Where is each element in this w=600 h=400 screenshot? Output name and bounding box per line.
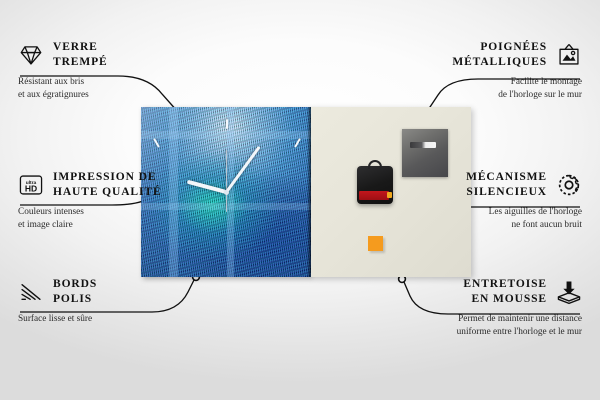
- feature-title: MÉCANISME SILENCIEUX: [466, 170, 547, 200]
- feature-title: BORDS POLIS: [53, 277, 97, 307]
- feature-heading: BORDS POLIS: [18, 277, 258, 310]
- hour-marker: [226, 119, 228, 129]
- svg-text:HD: HD: [25, 184, 37, 194]
- feature-description: Surface lisse et sûre: [18, 310, 258, 326]
- gear-icon: [556, 172, 582, 198]
- feature-heading: MÉCANISME SILENCIEUX: [344, 170, 582, 203]
- hanger-slot: [410, 142, 436, 148]
- artwork-band-horizontal: [141, 131, 311, 139]
- feature-title: POIGNÉES MÉTALLIQUES: [452, 40, 547, 70]
- ultra-hd-badge-icon: ultra HD: [18, 172, 44, 198]
- feature-mecanisme-silencieux: MÉCANISME SILENCIEUX Les aiguilles de l'…: [344, 170, 582, 232]
- feature-bords-polis: BORDS POLIS Surface lisse et sûre: [18, 277, 258, 326]
- feature-description: Permet de maintenir une distance uniform…: [344, 310, 582, 339]
- feature-description: Facilite le montage de l'horloge sur le …: [344, 73, 582, 102]
- mechanism-hook: [368, 160, 382, 169]
- foam-spacer: [368, 236, 383, 251]
- feature-poignees-metalliques: POIGNÉES MÉTALLIQUES Facilite le montage…: [344, 40, 582, 102]
- diamond-icon: [18, 42, 44, 68]
- feature-description: Résistant aux bris et aux égratignures: [18, 73, 258, 102]
- feature-title: ENTRETOISE EN MOUSSE: [463, 277, 547, 307]
- feature-impression-haute-qualite: ultra HD IMPRESSION DE HAUTE QUALITÉ Cou…: [18, 170, 258, 232]
- feature-description: Les aiguilles de l'horloge ne font aucun…: [344, 203, 582, 232]
- feature-title: VERRE TREMPÉ: [53, 40, 108, 70]
- feature-verre-trempe: VERRE TREMPÉ Résistant aux bris et aux é…: [18, 40, 258, 102]
- feature-heading: POIGNÉES MÉTALLIQUES: [344, 40, 582, 73]
- feature-heading: ENTRETOISE EN MOUSSE: [344, 277, 582, 310]
- feature-heading: VERRE TREMPÉ: [18, 40, 258, 73]
- hanging-picture-frame-icon: [556, 42, 582, 68]
- feature-description: Couleurs intenses et image claire: [18, 203, 258, 232]
- feature-title: IMPRESSION DE HAUTE QUALITÉ: [53, 170, 162, 200]
- polished-edge-lines-icon: [18, 279, 44, 305]
- arrow-onto-foam-pad-icon: [556, 279, 582, 305]
- feature-heading: ultra HD IMPRESSION DE HAUTE QUALITÉ: [18, 170, 258, 203]
- feature-entretoise-en-mousse: ENTRETOISE EN MOUSSE Permet de maintenir…: [344, 277, 582, 339]
